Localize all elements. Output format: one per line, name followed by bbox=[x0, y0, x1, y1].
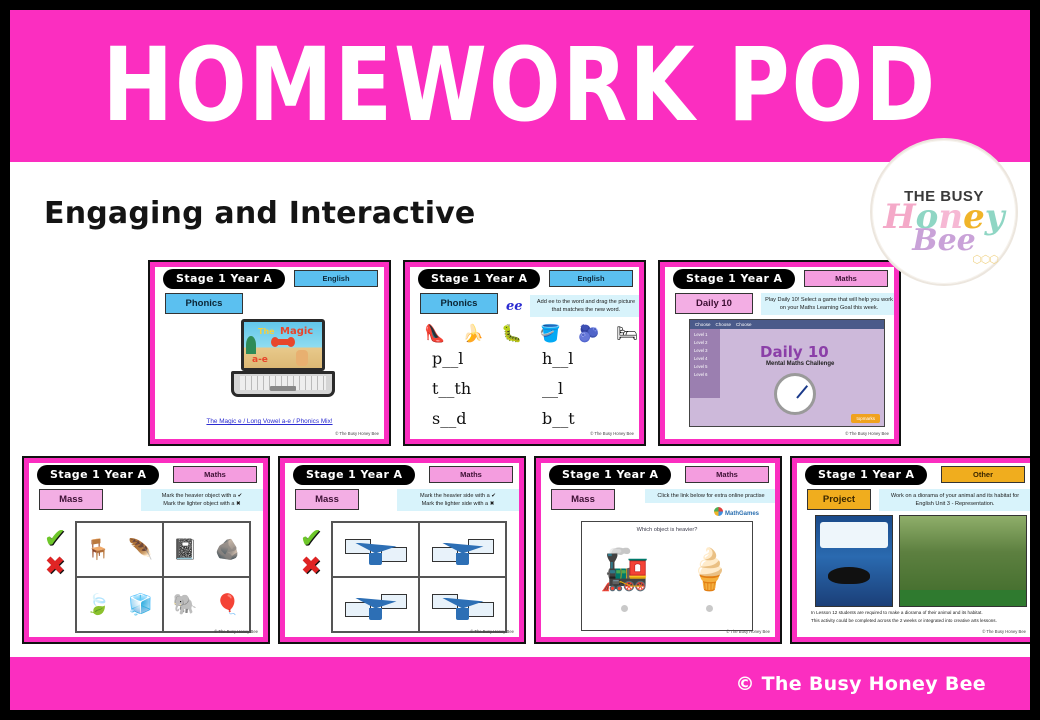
answer-selectors bbox=[582, 605, 752, 612]
card-row-top: Stage 1 Year A English Phonics The Magic… bbox=[148, 260, 901, 446]
object-icon[interactable]: 🪶 bbox=[128, 537, 153, 562]
card-daily-10[interactable]: Stage 1 Year A Maths Daily 10 Play Daily… bbox=[658, 260, 901, 446]
instruction-text: Mark the heavier side with a ✔ Mark the … bbox=[397, 489, 519, 511]
stage-badge: Stage 1 Year A bbox=[673, 269, 795, 289]
character-icon bbox=[296, 350, 308, 366]
cross-icon[interactable]: ✖ bbox=[295, 554, 327, 579]
object-icon[interactable]: 📓 bbox=[173, 537, 198, 562]
mathgames-icon bbox=[714, 507, 723, 516]
card-phonics-ee[interactable]: Stage 1 Year A English Phonics ee Add ee… bbox=[403, 260, 646, 446]
stage-badge: Stage 1 Year A bbox=[418, 269, 540, 289]
marker-palette: ✔ ✖ bbox=[295, 525, 327, 579]
instruction-text: Mark the heavier object with a ✔ Mark th… bbox=[141, 489, 263, 511]
app-menu-bar: Choose Choose Choose bbox=[690, 320, 884, 329]
card-credit: © The Busy Honey Bee bbox=[470, 629, 514, 634]
balance-scale-icon[interactable] bbox=[432, 588, 494, 622]
level-item[interactable]: Level 2 bbox=[694, 340, 720, 345]
screen-word-magic: Magic bbox=[280, 326, 313, 337]
word-slot[interactable]: s__d bbox=[422, 409, 532, 428]
trackpad bbox=[270, 386, 296, 391]
mathgames-label: MathGames bbox=[725, 511, 759, 517]
subject-tag: Maths bbox=[173, 466, 257, 483]
card-inner: Stage 1 Year A Maths Mass Mark the heavi… bbox=[29, 463, 263, 637]
stage-badge: Stage 1 Year A bbox=[549, 465, 671, 485]
picture-row: 👠 🍌 🐛 🪣 🫐 🛏 bbox=[420, 323, 639, 345]
topic-label: Project bbox=[807, 489, 871, 510]
project-note: In Lesson 12 students are required to ma… bbox=[811, 609, 1017, 625]
object-pair: 🐘🎈 bbox=[163, 577, 250, 632]
instruction-text: Add ee to the word and drag the picture … bbox=[530, 295, 639, 317]
level-item[interactable]: Level 6 bbox=[694, 372, 720, 377]
picture-item[interactable]: 🪣 bbox=[535, 323, 565, 345]
balance-scale-icon[interactable] bbox=[345, 588, 407, 622]
topic-label: Mass bbox=[295, 489, 359, 510]
card-mass-balance[interactable]: Stage 1 Year A Maths Mass Mark the heavi… bbox=[278, 456, 526, 644]
subject-tag: English bbox=[549, 270, 633, 287]
card-mass-objects[interactable]: Stage 1 Year A Maths Mass Mark the heavi… bbox=[22, 456, 270, 644]
diorama-photos bbox=[815, 515, 1027, 607]
level-item[interactable]: Level 3 bbox=[694, 348, 720, 353]
card-inner: Stage 1 Year A English Phonics ee Add ee… bbox=[410, 267, 639, 439]
picture-item[interactable]: 🍌 bbox=[458, 323, 488, 345]
stage-badge: Stage 1 Year A bbox=[163, 269, 285, 289]
menu-item-choose-1[interactable]: Choose bbox=[695, 322, 711, 327]
laptop-screen: The Magic a-e bbox=[241, 319, 325, 371]
app-body: Level 1 Level 2 Level 3 Level 4 Level 5 … bbox=[690, 329, 884, 426]
word-slot[interactable]: b__t bbox=[532, 409, 639, 428]
topmarks-brand[interactable]: topmarks bbox=[851, 414, 880, 423]
object-icon[interactable]: 🍃 bbox=[86, 592, 111, 617]
stopwatch-icon bbox=[774, 373, 816, 415]
logo-bee-word: Bee bbox=[912, 227, 976, 254]
header-banner: HOMEWORK POD bbox=[10, 10, 1030, 162]
radio-option-right[interactable] bbox=[706, 605, 713, 612]
subtitle: Engaging and Interactive bbox=[44, 196, 475, 231]
screen-word-the: The bbox=[258, 327, 275, 336]
card-credit: © The Busy Honey Bee bbox=[335, 431, 379, 436]
picture-item[interactable]: 🐛 bbox=[497, 323, 527, 345]
card-phonics-magic-e[interactable]: Stage 1 Year A English Phonics The Magic… bbox=[148, 260, 391, 446]
picture-item[interactable]: 🫐 bbox=[574, 323, 604, 345]
instruction-text: Play Daily 10! Select a game that will h… bbox=[761, 293, 894, 315]
card-mass-online[interactable]: Stage 1 Year A Maths Mass Click the link… bbox=[534, 456, 782, 644]
level-item[interactable]: Level 5 bbox=[694, 364, 720, 369]
answer-image-train[interactable]: 🚂 bbox=[600, 546, 650, 593]
activity-link[interactable]: The Magic e / Long Vowel a-e / Phonics M… bbox=[155, 417, 384, 427]
topic-label: Daily 10 bbox=[675, 293, 753, 314]
digraph-label: ee bbox=[506, 299, 523, 314]
brand-logo: THE BUSY Honey Bee ⬡⬡⬡ bbox=[870, 138, 1018, 286]
balance-cell bbox=[419, 522, 506, 577]
topic-label: Mass bbox=[551, 489, 615, 510]
instruction-text: Work on a diorama of your animal and its… bbox=[879, 489, 1030, 511]
subject-tag: Maths bbox=[429, 466, 513, 483]
word-grid: p__l h__l t__th __l s__d b__t bbox=[422, 349, 639, 428]
instruction-text: Click the link below for extra online pr… bbox=[645, 489, 775, 503]
balance-grid bbox=[331, 521, 507, 633]
object-icon[interactable]: 🎈 bbox=[215, 592, 240, 617]
answer-image-cone[interactable]: 🍦 bbox=[685, 546, 735, 593]
app-title: Daily 10 bbox=[760, 343, 829, 361]
topic-label: Mass bbox=[39, 489, 103, 510]
balance-cell bbox=[332, 522, 419, 577]
footer-copyright: © The Busy Honey Bee bbox=[735, 673, 986, 695]
logo-letter-y: y bbox=[985, 197, 1005, 237]
card-inner: Stage 1 Year A Maths Mass Mark the heavi… bbox=[285, 463, 519, 637]
mathgames-logo[interactable]: MathGames bbox=[714, 507, 759, 517]
cross-icon[interactable]: ✖ bbox=[39, 554, 71, 579]
honeycomb-icon: ⬡⬡⬡ bbox=[972, 253, 998, 266]
level-item[interactable]: Level 1 bbox=[694, 332, 720, 337]
logo-letter-h: H bbox=[884, 197, 916, 237]
slide-page: HOMEWORK POD THE BUSY Honey Bee ⬡⬡⬡ Enga… bbox=[10, 10, 1030, 710]
tick-icon[interactable]: ✔ bbox=[39, 525, 71, 552]
picture-item[interactable]: 👠 bbox=[420, 323, 450, 345]
card-inner: Stage 1 Year A Maths Daily 10 Play Daily… bbox=[665, 267, 894, 439]
word-slot[interactable]: __l bbox=[532, 379, 639, 398]
card-row-bottom: Stage 1 Year A Maths Mass Mark the heavi… bbox=[22, 456, 1030, 644]
laptop-keyboard bbox=[231, 371, 335, 397]
level-item[interactable]: Level 4 bbox=[694, 356, 720, 361]
level-list: Level 1 Level 2 Level 3 Level 4 Level 5 … bbox=[690, 329, 720, 398]
object-icon[interactable]: 🐘 bbox=[173, 592, 198, 617]
balance-scale-icon[interactable] bbox=[345, 533, 407, 567]
stage-badge: Stage 1 Year A bbox=[805, 465, 927, 485]
card-inner: Stage 1 Year A Maths Mass Click the link… bbox=[541, 463, 775, 637]
object-pair: 📓🪨 bbox=[163, 522, 250, 577]
question-panel: Which object is heavier? 🚂 🍦 bbox=[581, 521, 753, 631]
picture-item[interactable]: 🛏 bbox=[612, 323, 639, 345]
topic-label: Phonics bbox=[420, 293, 498, 314]
subject-tag: Maths bbox=[804, 270, 888, 287]
balance-cell bbox=[419, 577, 506, 632]
word-slot[interactable]: p__l bbox=[422, 349, 532, 368]
word-slot[interactable]: h__l bbox=[532, 349, 639, 368]
answer-images: 🚂 🍦 bbox=[582, 533, 752, 605]
daily10-app-window[interactable]: Choose Choose Choose ✕ Level 1 Level 2 L… bbox=[689, 319, 885, 427]
tick-icon[interactable]: ✔ bbox=[295, 525, 327, 552]
screen-word-ae: a-e bbox=[252, 355, 268, 365]
app-subtitle: Mental Maths Challenge bbox=[766, 361, 834, 367]
balance-scale-icon[interactable] bbox=[432, 533, 494, 567]
object-icon[interactable]: 🪨 bbox=[215, 537, 240, 562]
bone-icon bbox=[274, 339, 292, 345]
footer-banner: © The Busy Honey Bee bbox=[10, 657, 1030, 710]
menu-item-choose-2[interactable]: Choose bbox=[716, 322, 732, 327]
card-credit: © The Busy Honey Bee bbox=[214, 629, 258, 634]
object-icon[interactable]: 🧊 bbox=[128, 592, 153, 617]
word-slot[interactable]: t__th bbox=[422, 379, 532, 398]
balance-cell bbox=[332, 577, 419, 632]
marker-palette: ✔ ✖ bbox=[39, 525, 71, 579]
radio-option-left[interactable] bbox=[621, 605, 628, 612]
subject-tag: English bbox=[294, 270, 378, 287]
card-credit: © The Busy Honey Bee bbox=[590, 431, 634, 436]
card-credit: © The Busy Honey Bee bbox=[982, 629, 1026, 634]
card-credit: © The Busy Honey Bee bbox=[845, 431, 889, 436]
card-inner: Stage 1 Year A Other Project Work on a d… bbox=[797, 463, 1030, 637]
card-inner: Stage 1 Year A English Phonics The Magic… bbox=[155, 267, 384, 439]
photo-forest-diorama bbox=[899, 515, 1027, 607]
page-title: HOMEWORK POD bbox=[103, 35, 938, 136]
object-pair: 🪑🪶 bbox=[76, 522, 163, 577]
object-grid: 🪑🪶 📓🪨 🍃🧊 🐘🎈 bbox=[75, 521, 251, 633]
object-icon[interactable]: 🪑 bbox=[86, 537, 111, 562]
stage-badge: Stage 1 Year A bbox=[37, 465, 159, 485]
subject-tag: Maths bbox=[685, 466, 769, 483]
laptop-illustration: The Magic a-e bbox=[241, 319, 325, 397]
menu-item-choose-3[interactable]: Choose bbox=[736, 322, 752, 327]
stage-badge: Stage 1 Year A bbox=[293, 465, 415, 485]
subject-tag: Other bbox=[941, 466, 1025, 483]
object-pair: 🍃🧊 bbox=[76, 577, 163, 632]
palm-tree-icon bbox=[246, 336, 256, 354]
card-project-diorama[interactable]: Stage 1 Year A Other Project Work on a d… bbox=[790, 456, 1030, 644]
topic-label: Phonics bbox=[165, 293, 243, 314]
card-credit: © The Busy Honey Bee bbox=[726, 629, 770, 634]
photo-arctic-diorama bbox=[815, 515, 893, 607]
